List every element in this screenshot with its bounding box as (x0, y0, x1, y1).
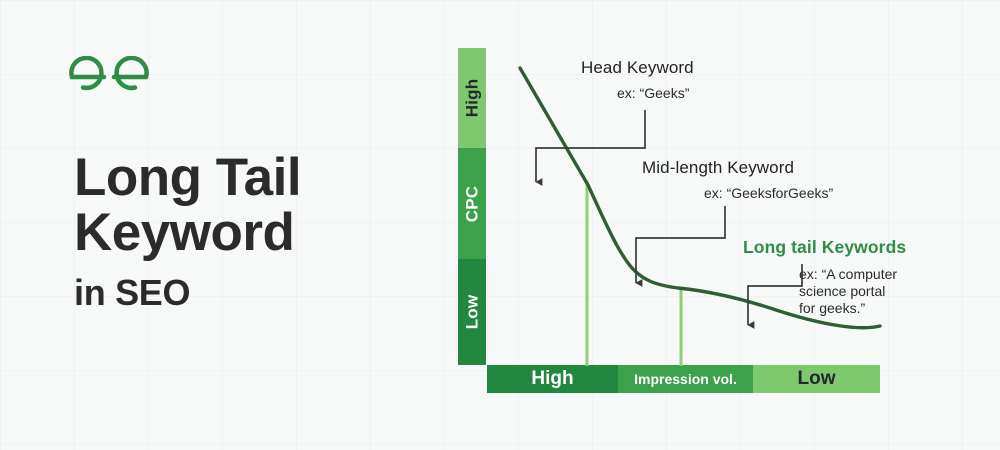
mid-connector (636, 206, 725, 283)
page-subtitle: in SEO (74, 274, 414, 312)
title-line-1: Long Tail (74, 150, 414, 205)
annotation-head-example: ex: “Geeks” (617, 85, 694, 102)
plot-area (440, 0, 1000, 450)
left-panel: Long Tail Keyword in SEO (0, 0, 440, 450)
annotation-longtail-title: Long tail Keywords (743, 237, 906, 258)
geeksforgeeks-logo (68, 56, 150, 96)
poster-canvas: Long Tail Keyword in SEO High CPC Low Hi… (0, 0, 1000, 450)
annotation-longtail-example-line-3: for geeks.” (799, 300, 906, 317)
annotation-midlength-keyword: Mid-length Keyword ex: “GeeksforGeeks” (642, 158, 833, 202)
annotation-longtail-example: ex: “A computer science portal for geeks… (799, 266, 906, 317)
annotation-midlength-title: Mid-length Keyword (642, 158, 833, 178)
annotation-head-keyword: Head Keyword ex: “Geeks” (581, 58, 694, 102)
annotation-longtail-keywords: Long tail Keywords ex: “A computer scien… (743, 237, 906, 317)
annotation-head-title: Head Keyword (581, 58, 694, 78)
annotation-longtail-example-line-2: science portal (799, 283, 906, 300)
annotation-longtail-example-line-1: ex: “A computer (799, 266, 906, 283)
annotation-midlength-example: ex: “GeeksforGeeks” (704, 185, 833, 202)
title-line-2: Keyword (74, 205, 414, 260)
page-title: Long Tail Keyword in SEO (74, 150, 414, 312)
longtail-keyword-chart: High CPC Low High Impression vol. Low (440, 0, 1000, 450)
